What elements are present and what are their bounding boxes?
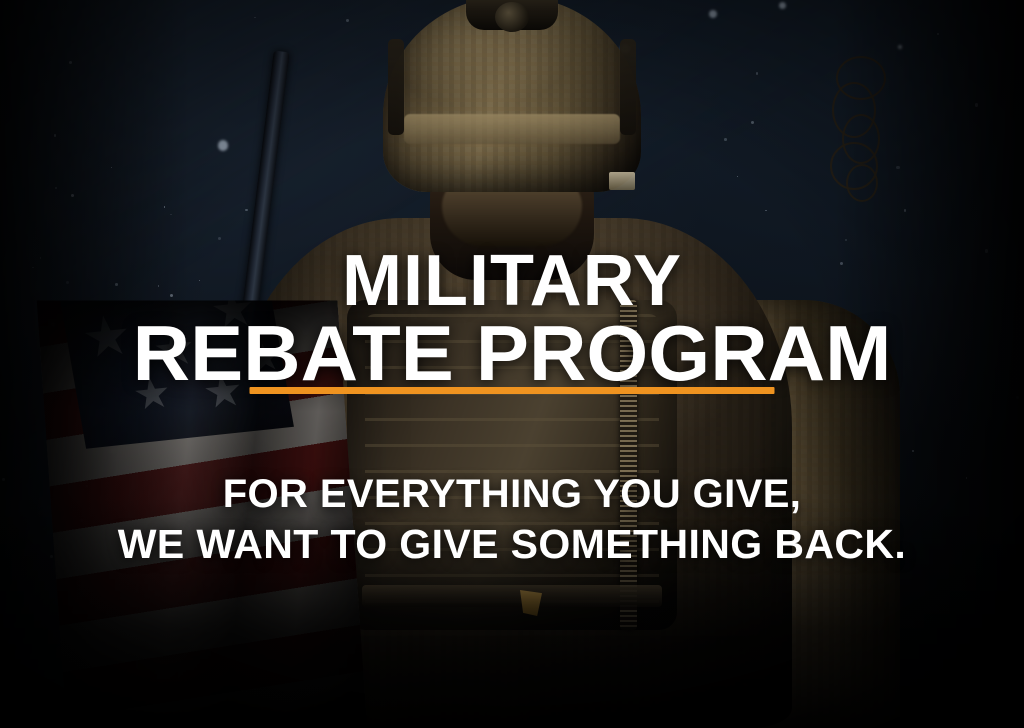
subheadline-line-1: FOR EVERYTHING YOU GIVE, — [0, 470, 1024, 519]
subheadline-line-2: WE WANT TO GIVE SOMETHING BACK. — [0, 519, 1024, 569]
orange-divider — [250, 387, 775, 394]
headline-line-2: REBATE PROGRAM — [0, 316, 1024, 391]
banner-headline: MILITARY REBATE PROGRAM — [0, 247, 1024, 391]
headline-line-1: MILITARY — [0, 247, 1024, 316]
military-rebate-banner: MILITARY REBATE PROGRAM FOR EVERYTHING Y… — [0, 0, 1024, 728]
banner-subheadline: FOR EVERYTHING YOU GIVE, WE WANT TO GIVE… — [0, 470, 1024, 569]
banner-content: MILITARY REBATE PROGRAM FOR EVERYTHING Y… — [0, 0, 1024, 728]
